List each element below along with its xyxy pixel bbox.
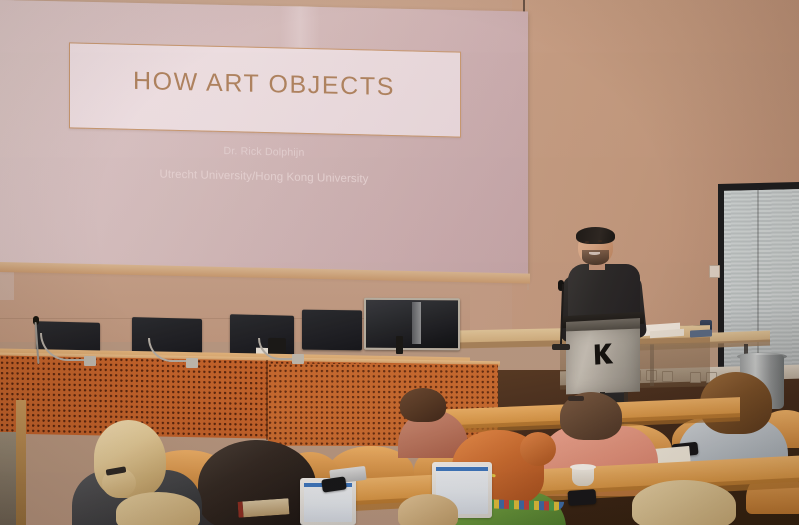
microphone-clamp — [84, 356, 96, 366]
coffee-cup-rim — [570, 464, 596, 470]
smartphone — [568, 489, 597, 506]
lectern-microphone-base — [552, 344, 570, 350]
left-wood-post — [16, 400, 26, 525]
audience-member-hair-bun — [520, 432, 556, 466]
audience-member-hair — [400, 388, 446, 422]
audience-member-hair — [398, 494, 458, 525]
lecture-hall-photo: HOW ART OBJECTS Dr. Rick Dolphijn Utrech… — [0, 0, 799, 525]
speaker-hair — [576, 227, 615, 244]
speaker-eye — [585, 241, 589, 243]
desk-monitor-large — [364, 298, 460, 351]
lectern-logo-icon — [592, 341, 615, 367]
desk-monitor — [302, 310, 362, 351]
acoustic-panel-seam — [266, 360, 268, 440]
speaker-smile — [589, 252, 600, 255]
audience-member-hair — [116, 492, 200, 525]
microphone-clamp — [292, 354, 304, 364]
black-post — [396, 336, 403, 354]
blue-object-on-desk — [690, 329, 712, 337]
speaker-eye — [598, 240, 602, 242]
light-switch[interactable] — [709, 265, 720, 278]
audience-member-hair — [632, 480, 736, 525]
laptop-titlebar — [436, 467, 488, 471]
microphone-clamp — [186, 358, 198, 368]
hair-clip — [568, 396, 584, 401]
